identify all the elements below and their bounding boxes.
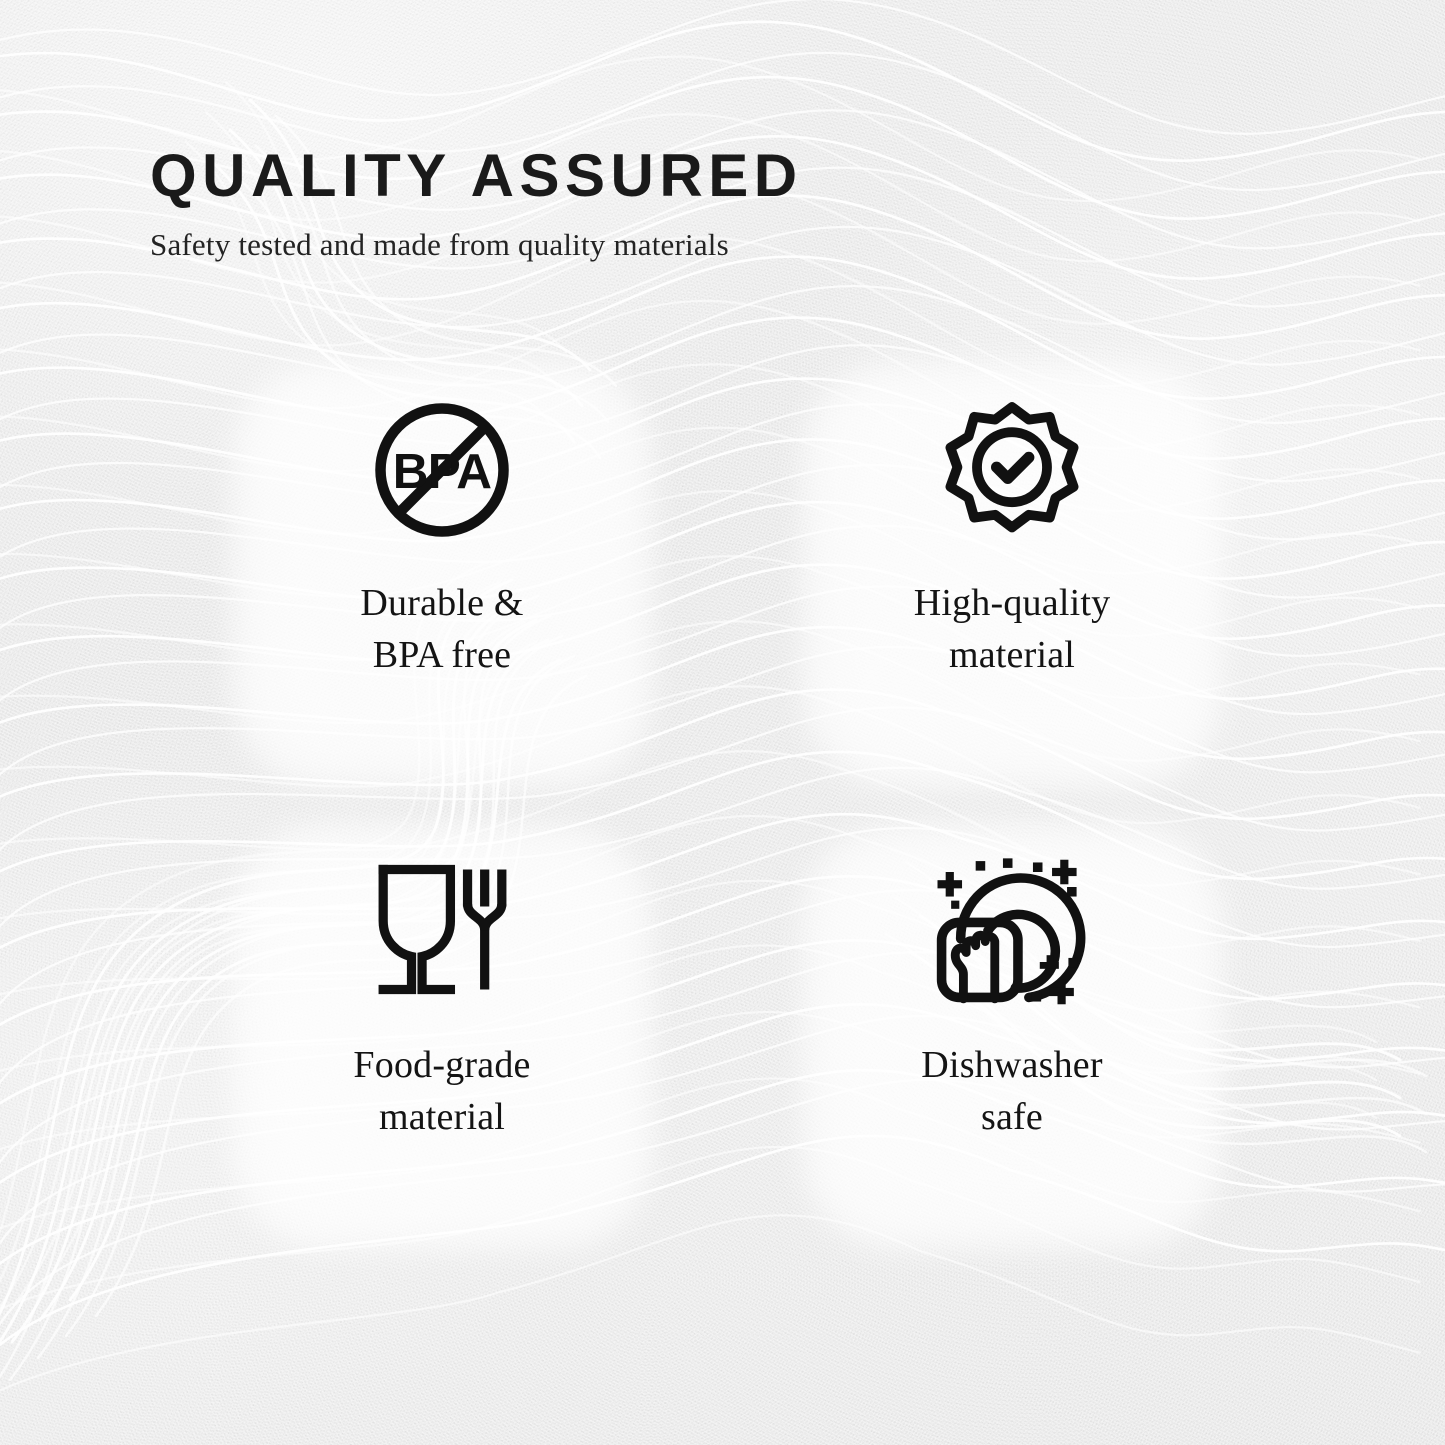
feature-label-line-1: Durable & (360, 582, 523, 624)
icon-container (930, 824, 1095, 1039)
page-title: QUALITY ASSURED (150, 146, 1250, 206)
feature-label: Food-grade material (353, 1039, 530, 1144)
feature-label-line-2: BPA free (360, 629, 523, 681)
feature-label-line-2: material (353, 1091, 530, 1143)
icon-container (370, 824, 515, 1039)
feature-card-dishwasher-safe[interactable]: Dishwasher safe (802, 824, 1222, 1249)
icon-container (942, 362, 1082, 577)
feature-label-line-2: material (914, 629, 1111, 681)
infographic-canvas: QUALITY ASSURED Safety tested and made f… (0, 0, 1445, 1445)
dishwasher-safe-icon (930, 857, 1095, 1007)
food-grade-glass-fork-icon (370, 859, 515, 1004)
feature-label-line-2: safe (921, 1091, 1102, 1143)
feature-card-food-grade[interactable]: Food-grade material (232, 824, 652, 1249)
feature-label-line-1: High-quality (914, 582, 1111, 624)
bpa-icon-text: BPA (393, 444, 492, 499)
feature-grid: BPA Durable & BPA free (232, 362, 1222, 1247)
feature-card-high-quality[interactable]: High-quality material (802, 362, 1222, 787)
feature-label-line-1: Dishwasher (921, 1044, 1102, 1086)
feature-card-bpa-free[interactable]: BPA Durable & BPA free (232, 362, 652, 787)
feature-label-line-1: Food-grade (353, 1044, 530, 1086)
icon-container: BPA (367, 362, 517, 577)
bpa-free-icon: BPA (367, 395, 517, 545)
feature-label: Dishwasher safe (921, 1039, 1102, 1144)
header-block: QUALITY ASSURED Safety tested and made f… (150, 146, 1250, 262)
quality-badge-check-icon (942, 400, 1082, 540)
feature-label: High-quality material (914, 577, 1111, 682)
page-subtitle: Safety tested and made from quality mate… (150, 206, 1250, 262)
feature-label: Durable & BPA free (360, 577, 523, 682)
